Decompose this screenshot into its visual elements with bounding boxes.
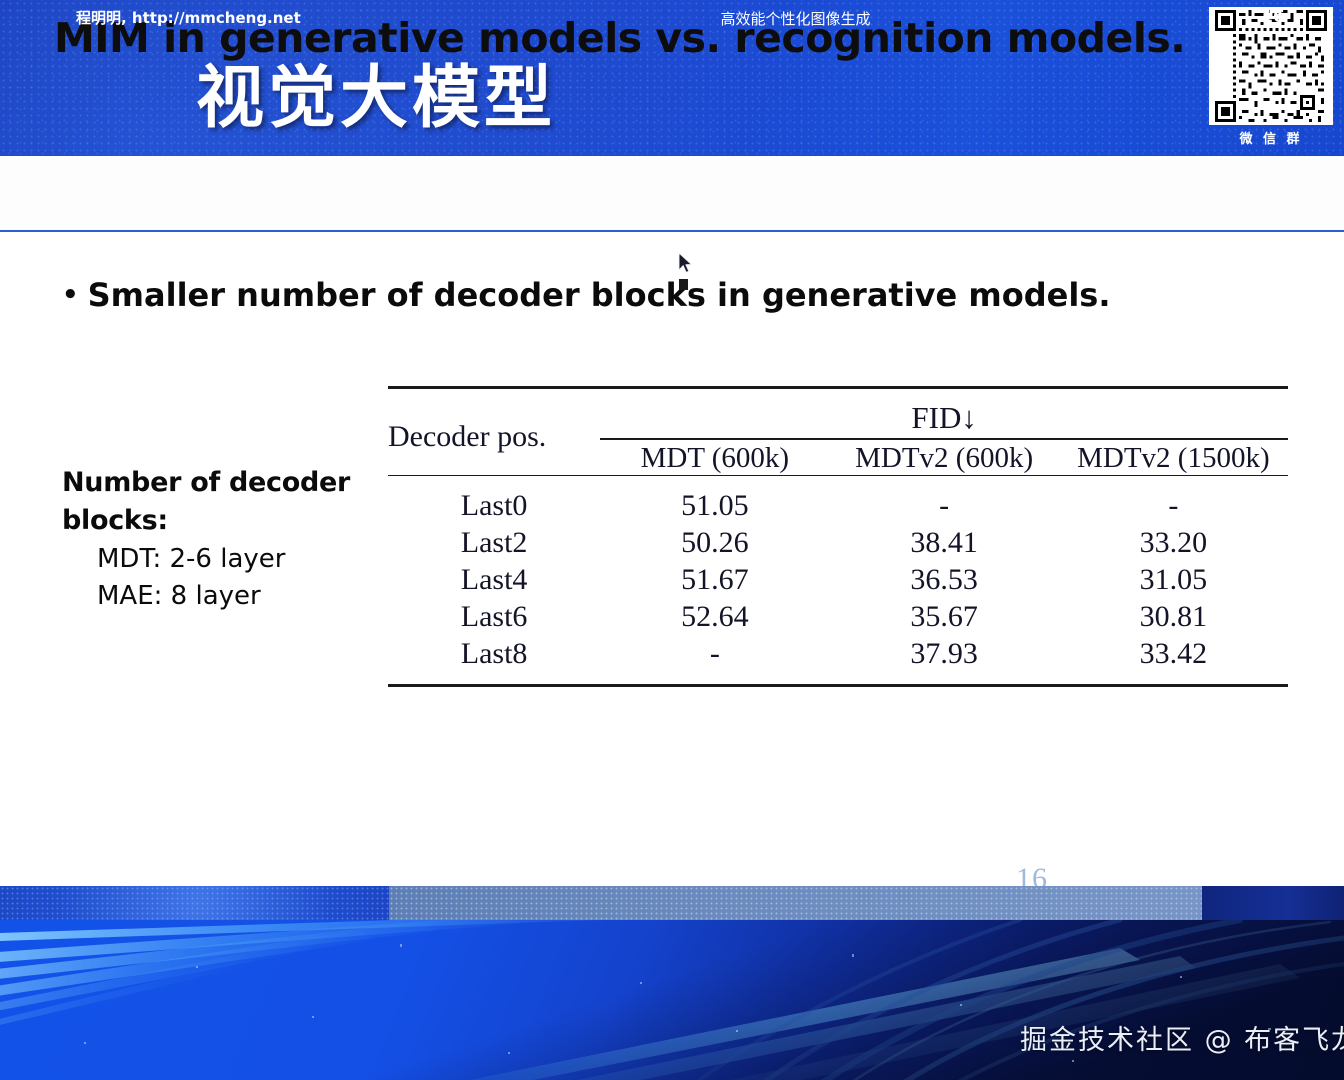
qr-caption: 微 信 群 <box>1206 128 1336 147</box>
footer-left-segment <box>0 886 389 920</box>
mouse-cursor-icon <box>678 252 694 276</box>
slide-canvas: 视觉大模型 <box>0 0 1344 1080</box>
table-header-row: Decoder pos. FID↓ <box>388 400 1288 442</box>
left-annotation: Number of decoder blocks: MDT: 2-6 layer… <box>62 464 392 616</box>
cell-mdtv2-600k: 37.93 <box>829 635 1058 672</box>
table-row: Last2 50.26 38.41 33.20 <box>388 524 1288 561</box>
header-fid-group: FID↓ <box>600 400 1288 442</box>
header-col-mdt-600k: MDT (600k) <box>600 442 829 475</box>
cell-mdtv2-1500k: - <box>1059 487 1288 524</box>
row-label: Last8 <box>388 635 600 672</box>
row-label: Last2 <box>388 524 600 561</box>
cell-mdtv2-1500k: 33.20 <box>1059 524 1288 561</box>
left-annotation-line-2: MAE: 8 layer <box>62 578 392 615</box>
bullet-marker-icon: • <box>62 280 79 310</box>
cell-mdtv2-1500k: 30.81 <box>1059 598 1288 635</box>
row-label: Last6 <box>388 598 600 635</box>
table-row: Last0 51.05 - - <box>388 487 1288 524</box>
table-row: Last6 52.64 35.67 30.81 <box>388 598 1288 635</box>
footer-right-segment <box>1202 886 1344 920</box>
left-annotation-heading: Number of decoder blocks: <box>62 464 392 541</box>
row-label: Last0 <box>388 487 600 524</box>
table-bottom-rule <box>388 684 1288 687</box>
header-fid-label: FID↓ <box>600 400 1288 437</box>
table-row: Last8 - 37.93 33.42 <box>388 635 1288 672</box>
cell-mdtv2-1500k: 31.05 <box>1059 561 1288 598</box>
fid-table: Decoder pos. FID↓ MDT (600k) MDTv2 (600k… <box>388 389 1288 684</box>
cell-mdtv2-1500k: 33.42 <box>1059 635 1288 672</box>
footer-center-segment <box>389 886 1202 920</box>
subtitle-zone <box>0 156 1344 232</box>
footer-topic-label: 高效能个性化图像生成 <box>389 8 1202 29</box>
header-fid-rule <box>600 438 1288 440</box>
cell-mdtv2-600k: 35.67 <box>829 598 1058 635</box>
fid-results-table: Decoder pos. FID↓ MDT (600k) MDTv2 (600k… <box>388 386 1288 687</box>
header-col-mdtv2-600k: MDTv2 (600k) <box>829 442 1058 475</box>
cell-mdt-600k: 51.05 <box>600 487 829 524</box>
left-annotation-line-1: MDT: 2-6 layer <box>62 541 392 578</box>
cell-mdtv2-600k: - <box>829 487 1058 524</box>
cell-mdt-600k: 52.64 <box>600 598 829 635</box>
cell-mdtv2-600k: 38.41 <box>829 524 1058 561</box>
table-row: Last4 51.67 36.53 31.05 <box>388 561 1288 598</box>
footer-page-number: 16 <box>1202 7 1344 27</box>
row-label: Last4 <box>388 561 600 598</box>
bullet-item: •Smaller number of decoder blocks in gen… <box>62 276 1110 314</box>
cell-mdt-600k: 51.67 <box>600 561 829 598</box>
header-col-mdtv2-1500k: MDTv2 (1500k) <box>1059 442 1288 475</box>
footer-author-link[interactable]: 程明明, http://mmcheng.net <box>76 7 301 28</box>
text-caret-marker <box>679 279 688 290</box>
footer-bar <box>0 886 1344 920</box>
community-watermark: 掘金技术社区 @ 布客飞龙 <box>1020 1018 1344 1057</box>
cell-mdt-600k: 50.26 <box>600 524 829 561</box>
header-decoder-pos: Decoder pos. <box>388 400 600 475</box>
cell-mdt-600k: - <box>600 635 829 672</box>
cell-mdtv2-600k: 36.53 <box>829 561 1058 598</box>
bullet-text: Smaller number of decoder blocks in gene… <box>88 276 1111 314</box>
subtitle-divider <box>0 230 1344 232</box>
